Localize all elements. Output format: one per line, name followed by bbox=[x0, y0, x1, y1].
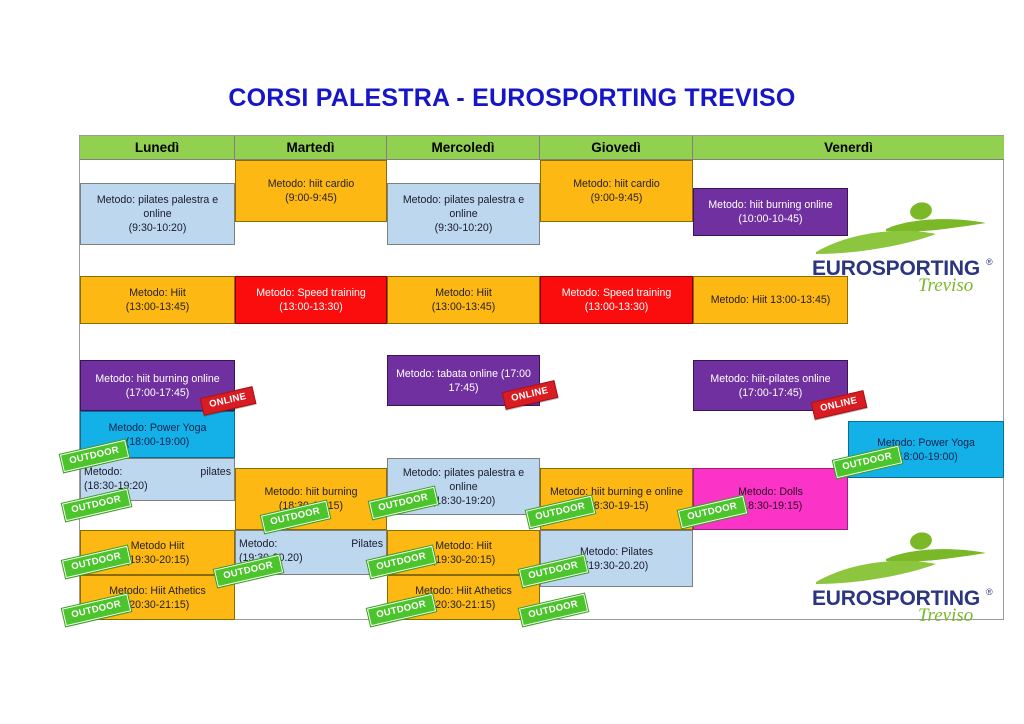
logo-tagline: Treviso bbox=[918, 605, 973, 622]
course-cell-mer-hiit-13[interactable]: Metodo: Hiit (13:00-13:45) bbox=[387, 276, 540, 324]
column-header-martedi: Martedì bbox=[235, 136, 387, 160]
course-cell-mer-pilates-am[interactable]: Metodo: pilates palestra e online (9:30-… bbox=[387, 183, 540, 245]
schedule-page: CORSI PALESTRA - EUROSPORTING TREVISO Lu… bbox=[0, 0, 1024, 724]
course-cell-gio-hiit-cardio[interactable]: Metodo: hiit cardio (9:00-9:45) bbox=[540, 160, 693, 222]
course-cell-mar-hiit-cardio[interactable]: Metodo: hiit cardio (9:00-9:45) bbox=[235, 160, 387, 222]
course-cell-lun-hiit-13[interactable]: Metodo: Hiit (13:00-13:45) bbox=[80, 276, 235, 324]
column-header-giovedi: Giovedì bbox=[540, 136, 693, 160]
course-cell-mar-speed-13[interactable]: Metodo: Speed training (13:00-13:30) bbox=[235, 276, 387, 324]
column-header-mercoledi: Mercoledì bbox=[387, 136, 540, 160]
eurosporting-logo-top: EUROSPORTING ® Treviso bbox=[808, 196, 998, 292]
eurosporting-logo-graphic: EUROSPORTING ® Treviso bbox=[808, 196, 998, 292]
course-cell-ven-dolls-18[interactable]: Metodo: Dolls (18:30-19:15) bbox=[693, 468, 848, 530]
column-header-venerdi: Venerdì bbox=[693, 136, 1004, 160]
logo-tagline: Treviso bbox=[918, 275, 973, 292]
logo-head-icon bbox=[908, 530, 933, 551]
column-header-lunedi: Lunedì bbox=[80, 136, 235, 160]
logo-arm-swoosh-icon bbox=[886, 549, 986, 562]
eurosporting-logo-bottom: EUROSPORTING ® Treviso bbox=[808, 526, 998, 622]
logo-body-swoosh-icon bbox=[816, 231, 936, 254]
eurosporting-logo-graphic-2: EUROSPORTING ® Treviso bbox=[808, 526, 998, 622]
logo-registered-mark: ® bbox=[986, 587, 993, 597]
course-cell-lun-pilates-am[interactable]: Metodo: pilates palestra e online (9:30-… bbox=[80, 183, 235, 245]
page-title: CORSI PALESTRA - EUROSPORTING TREVISO bbox=[0, 84, 1024, 113]
logo-arm-swoosh-icon bbox=[886, 219, 986, 232]
course-cell-gio-hiit-burning-online-18[interactable]: Metodo: hiit burning e online (18:30-19-… bbox=[540, 468, 693, 530]
logo-registered-mark: ® bbox=[986, 257, 993, 267]
logo-body-swoosh-icon bbox=[816, 561, 936, 584]
logo-head-icon bbox=[908, 200, 933, 221]
course-cell-gio-speed-13[interactable]: Metodo: Speed training (13:00-13:30) bbox=[540, 276, 693, 324]
